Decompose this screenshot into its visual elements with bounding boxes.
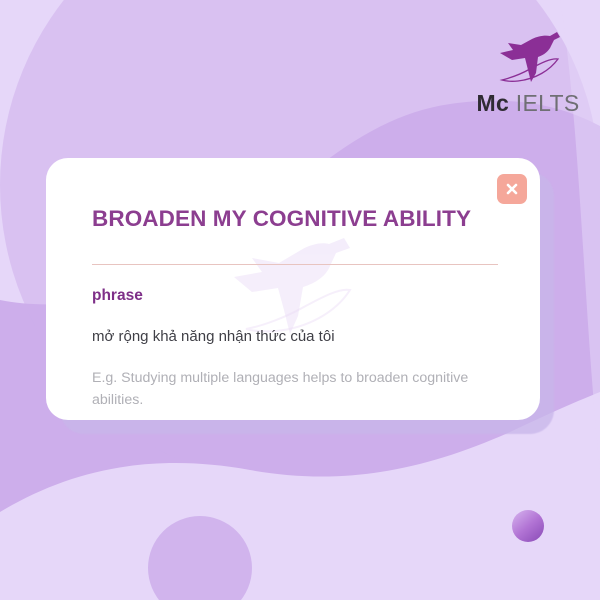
close-icon: [504, 181, 520, 197]
card-divider: [92, 264, 498, 265]
card-title: BROADEN MY COGNITIVE ABILITY: [92, 206, 512, 232]
vocabulary-card: BROADEN MY COGNITIVE ABILITY phrase mở r…: [46, 158, 540, 420]
hummingbird-icon: [488, 26, 570, 88]
part-of-speech-label: phrase: [92, 286, 143, 306]
brand-name-light: IELTS: [509, 90, 579, 116]
brand-name-bold: Mc: [477, 90, 510, 116]
close-button[interactable]: [497, 174, 527, 204]
brand-wordmark: Mc IELTS: [468, 88, 588, 118]
example-text: E.g. Studying multiple languages helps t…: [92, 368, 497, 411]
brand-logo: Mc IELTS: [468, 26, 588, 118]
accent-dot: [512, 510, 544, 542]
poster-canvas: Mc IELTS BROADEN MY COGNITIVE ABILITY ph…: [0, 0, 600, 600]
meaning-text: mở rộng khả năng nhận thức của tôi: [92, 326, 502, 348]
